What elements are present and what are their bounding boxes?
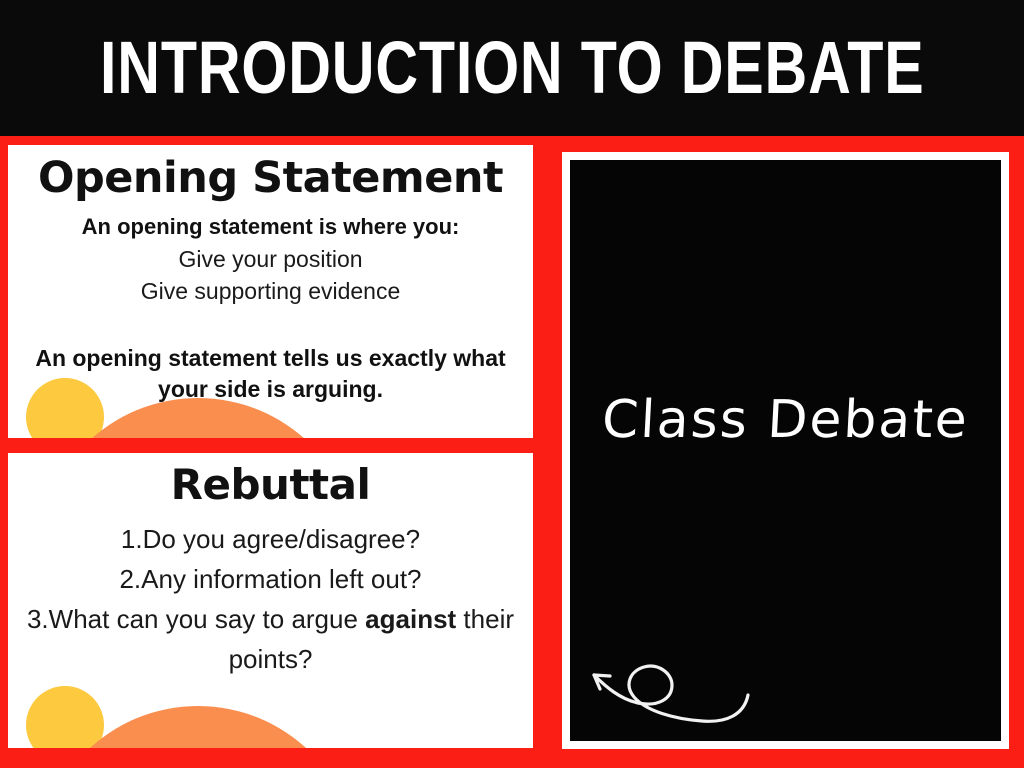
slide-canvas: INTRODUCTION TO DEBATE Opening Statement… [0,0,1024,768]
panel-class-debate-inner: Class Debate [570,160,1001,741]
panel-class-debate: Class Debate [562,152,1009,749]
opening-point-2: Give supporting evidence [20,275,521,307]
class-debate-title: Class Debate [570,392,1001,448]
card-opening-statement: Opening Statement An opening statement i… [8,145,533,438]
list-item-number: 2. [119,564,141,594]
rebuttal-question-list: 1.Do you agree/disagree? 2.Any informati… [20,519,521,679]
list-item: 2.Any information left out? [20,559,521,599]
list-item-text: Any information left out? [141,564,421,594]
card-rebuttal: Rebuttal 1.Do you agree/disagree? 2.Any … [8,453,533,748]
list-item-text: What can you say to argue [49,604,366,634]
list-item: 1.Do you agree/disagree? [20,519,521,559]
card-heading-opening-statement: Opening Statement [20,151,521,205]
opening-closing-text: An opening statement tells us exactly wh… [34,343,507,405]
card-heading-rebuttal: Rebuttal [20,459,521,511]
curly-arrow-icon [576,619,756,729]
list-item-text: Do you agree/disagree? [143,524,421,554]
list-item-emphasis: against [365,604,456,634]
list-item-number: 3. [27,604,49,634]
opening-point-1: Give your position [20,243,521,275]
slide-header: INTRODUCTION TO DEBATE [0,0,1024,136]
list-item-number: 1. [121,524,143,554]
list-item: 3.What can you say to argue against thei… [20,599,521,679]
page-title: INTRODUCTION TO DEBATE [100,31,924,105]
opening-lead-text: An opening statement is where you: [20,211,521,243]
